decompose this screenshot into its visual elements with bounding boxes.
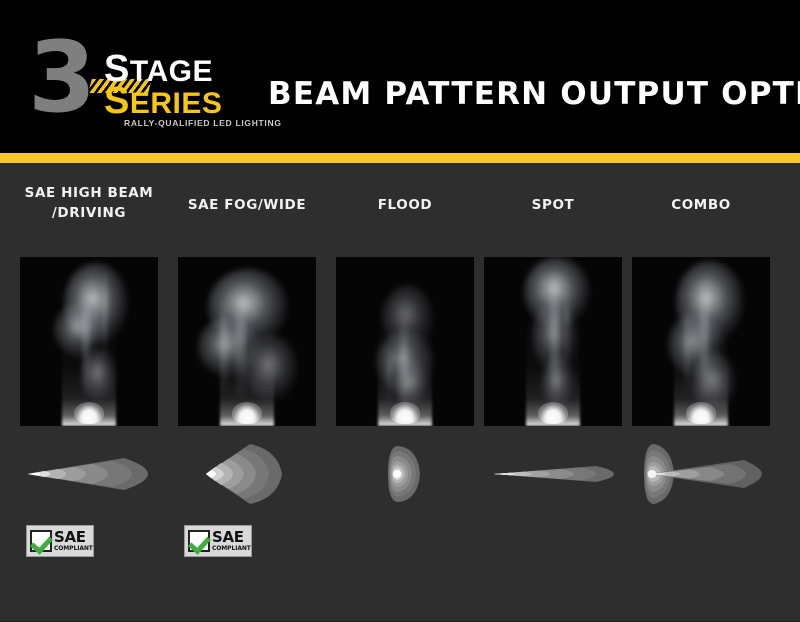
sae-badge-sub-label: COMPLIANT xyxy=(54,546,93,552)
logo-series-cap: S xyxy=(104,80,130,122)
beam-option-spot[interactable]: SPOT xyxy=(484,170,622,610)
stage-series-logo: 3 STAGE SERIES RALLY-QUALIFIED LED LIGHT… xyxy=(28,32,238,130)
beam-shape-diagram xyxy=(178,438,316,510)
beam-photo xyxy=(178,257,316,426)
beam-pattern-infographic: 3 STAGE SERIES RALLY-QUALIFIED LED LIGHT… xyxy=(0,0,800,622)
beam-option-label: SAE HIGH BEAM /DRIVING xyxy=(4,184,174,223)
beam-option-combo[interactable]: COMBO xyxy=(632,170,770,610)
beam-photo xyxy=(632,257,770,426)
beam-hotspot xyxy=(390,402,420,424)
sae-badge-main-label: SAE xyxy=(54,530,93,545)
beam-option-label-line2: /DRIVING xyxy=(52,205,126,221)
beam-option-label: SPOT xyxy=(468,196,638,216)
beam-photo xyxy=(20,257,158,426)
beam-hotspot xyxy=(74,402,104,424)
beam-hotspot xyxy=(686,402,716,424)
sae-badge-text: SAE COMPLIANT xyxy=(54,530,93,552)
beam-option-label-line1: FLOOD xyxy=(378,197,433,213)
beam-road-glow xyxy=(220,257,274,426)
beam-options-grid: SAE HIGH BEAM /DRIVING xyxy=(20,170,780,610)
header-banner: 3 STAGE SERIES RALLY-QUALIFIED LED LIGHT… xyxy=(0,0,800,153)
beam-shape-diagram xyxy=(20,438,158,510)
beam-photo xyxy=(484,257,622,426)
beam-option-flood[interactable]: FLOOD xyxy=(336,170,474,610)
beam-option-label: SAE FOG/WIDE xyxy=(162,196,332,216)
beam-option-label: COMBO xyxy=(616,196,786,216)
logo-tagline: RALLY-QUALIFIED LED LIGHTING xyxy=(124,118,282,128)
green-check-icon xyxy=(30,530,52,552)
page-title: BEAM PATTERN OUTPUT OPTIONS xyxy=(268,76,800,112)
beam-photo xyxy=(336,257,474,426)
beam-hotspot xyxy=(538,402,568,424)
beam-option-label-line1: SAE FOG/WIDE xyxy=(188,197,306,213)
sae-compliant-badge: SAE COMPLIANT xyxy=(26,525,94,557)
sae-badge-text: SAE COMPLIANT xyxy=(212,530,251,552)
beam-shape-diagram xyxy=(632,438,770,510)
beam-road-glow xyxy=(674,257,728,426)
beam-option-sae-fog-wide[interactable]: SAE FOG/WIDE xyxy=(178,170,316,610)
beam-hotspot xyxy=(232,402,262,424)
beam-option-label-line1: SPOT xyxy=(532,197,575,213)
logo-numeral-3: 3 xyxy=(28,32,92,125)
logo-word-series: SERIES xyxy=(104,82,222,120)
sae-compliant-badge: SAE COMPLIANT xyxy=(184,525,252,557)
beam-road-glow xyxy=(378,257,432,426)
beam-option-sae-high-beam-driving[interactable]: SAE HIGH BEAM /DRIVING xyxy=(20,170,158,610)
sae-badge-main-label: SAE xyxy=(212,530,251,545)
accent-divider xyxy=(0,153,800,163)
sae-badge-sub-label: COMPLIANT xyxy=(212,546,251,552)
green-check-icon xyxy=(188,530,210,552)
beam-shape-diagram xyxy=(484,438,622,510)
beam-road-glow xyxy=(62,257,116,426)
beam-road-glow xyxy=(526,257,580,426)
beam-option-label: FLOOD xyxy=(320,196,490,216)
beam-option-label-line1: SAE HIGH BEAM xyxy=(25,185,154,201)
beam-option-label-line1: COMBO xyxy=(671,197,731,213)
logo-series-rest: ERIES xyxy=(130,87,223,120)
beam-shape-diagram xyxy=(336,438,474,510)
